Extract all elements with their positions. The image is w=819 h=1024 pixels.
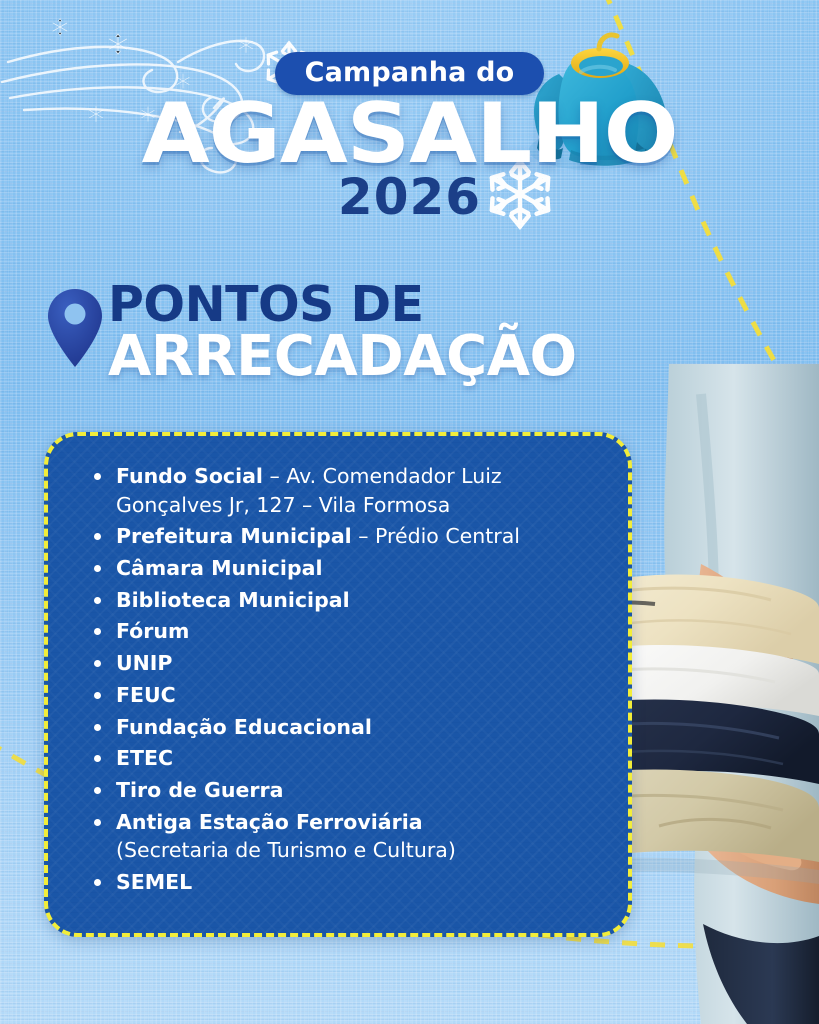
campaign-header: Campanha do AGASALHO 2026 <box>0 0 819 250</box>
collection-point-name: ETEC <box>116 746 173 770</box>
collection-point-item: Câmara Municipal <box>94 554 610 583</box>
collection-point-name: Fórum <box>116 619 189 643</box>
section-title-lines: PONTOS DE ARRECADAÇÃO <box>108 281 577 384</box>
collection-point-item: Antiga Estação Ferroviária(Secretaria de… <box>94 808 610 865</box>
poster-canvas: Campanha do AGASALHO 2026 PONTOS DE ARRE… <box>0 0 819 1024</box>
collection-point-name: Prefeitura Municipal <box>116 524 352 548</box>
section-title-line-2: ARRECADAÇÃO <box>108 330 577 384</box>
collection-point-item: SEMEL <box>94 868 610 897</box>
collection-points-list: Fundo Social – Av. Comendador Luiz Gonça… <box>48 462 628 897</box>
campaign-year: 2026 <box>0 172 819 222</box>
collection-points-card: Fundo Social – Av. Comendador Luiz Gonça… <box>44 432 632 937</box>
section-title-line-1: PONTOS DE <box>108 281 577 328</box>
collection-point-item: Biblioteca Municipal <box>94 586 610 615</box>
collection-point-item: Fundo Social – Av. Comendador Luiz Gonça… <box>94 462 610 519</box>
collection-point-item: Fundação Educacional <box>94 713 610 742</box>
collection-point-item: UNIP <box>94 649 610 678</box>
collection-point-item: FEUC <box>94 681 610 710</box>
collection-point-name: Biblioteca Municipal <box>116 588 350 612</box>
collection-point-item: Fórum <box>94 617 610 646</box>
collection-point-name: Fundo Social <box>116 464 263 488</box>
collection-point-name: Fundação Educacional <box>116 715 372 739</box>
campaign-wordmark: AGASALHO <box>0 96 819 172</box>
collection-point-subtitle: (Secretaria de Turismo e Cultura) <box>116 836 610 865</box>
collection-point-name: SEMEL <box>116 870 192 894</box>
collection-point-item: Prefeitura Municipal – Prédio Central <box>94 522 610 551</box>
collection-point-name: UNIP <box>116 651 172 675</box>
collection-point-name: Antiga Estação Ferroviária <box>116 810 423 834</box>
collection-point-detail: – Prédio Central <box>352 524 520 548</box>
collection-point-item: ETEC <box>94 744 610 773</box>
section-title: PONTOS DE ARRECADAÇÃO <box>46 281 577 384</box>
location-pin-icon <box>46 287 104 369</box>
collection-point-name: FEUC <box>116 683 176 707</box>
collection-point-name: Tiro de Guerra <box>116 778 283 802</box>
collection-point-name: Câmara Municipal <box>116 556 322 580</box>
collection-point-item: Tiro de Guerra <box>94 776 610 805</box>
